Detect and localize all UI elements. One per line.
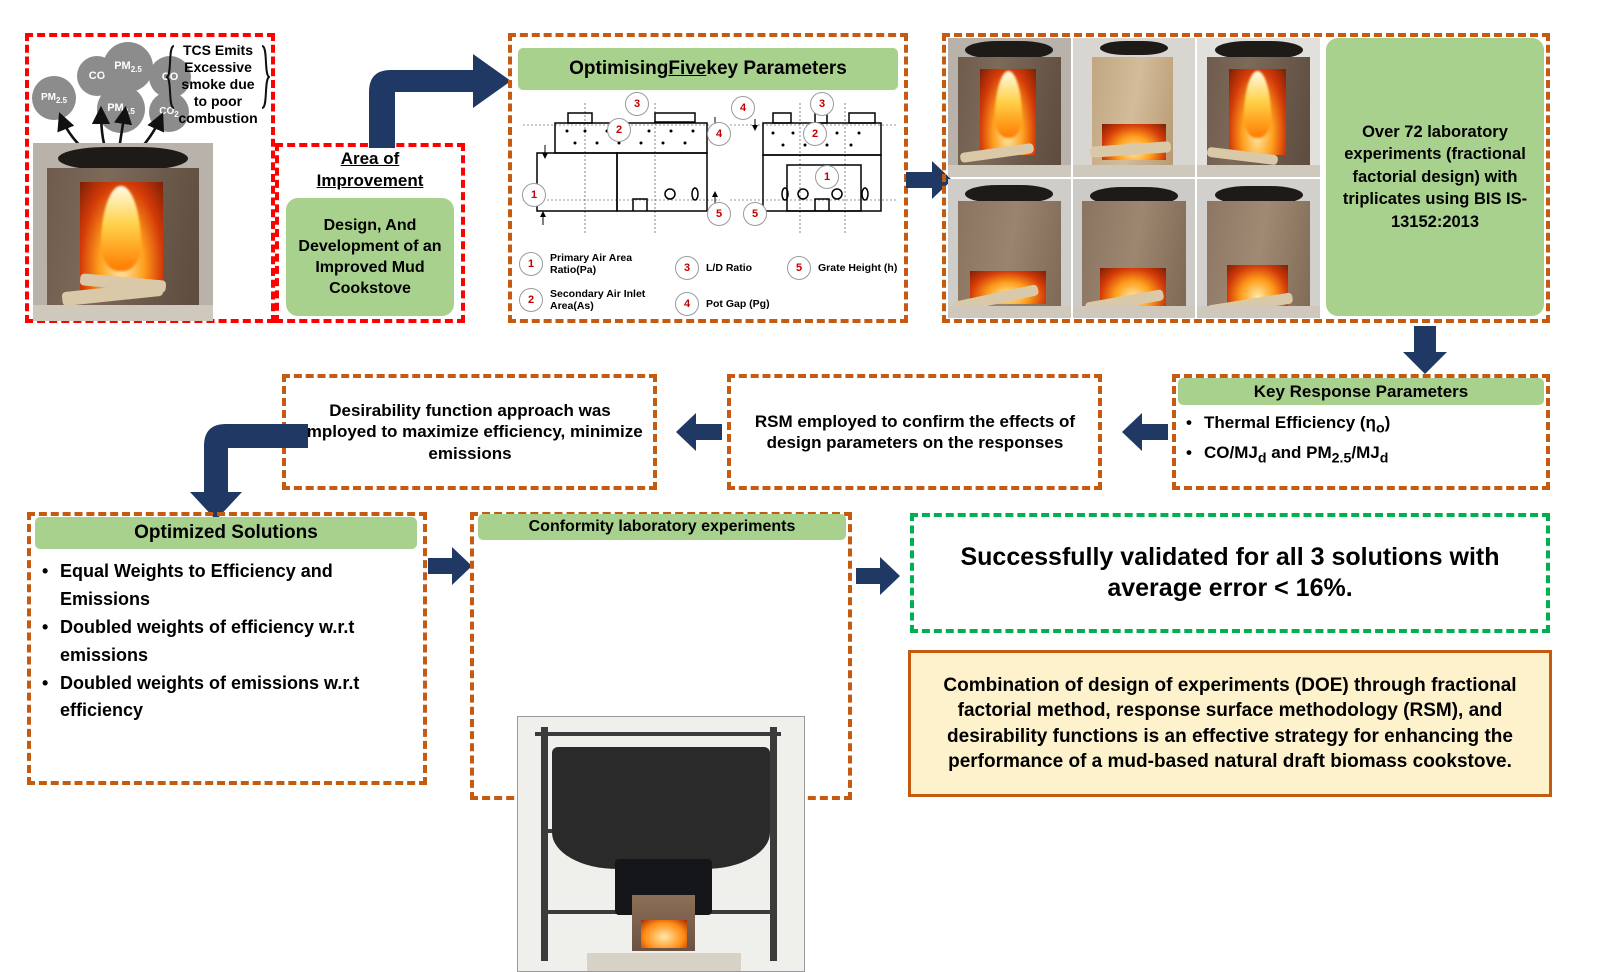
ash-bed — [1073, 306, 1196, 319]
key-response-item: CO/MJd and PM2.5/MJd — [1184, 440, 1544, 470]
item-subscript: o — [1376, 420, 1385, 436]
parameters-legend: 1 Primary Air Area Ratio(Pa) 2 Secondary… — [515, 252, 907, 318]
legend-callout-4: 4 — [675, 292, 699, 316]
legend-number: 3 — [684, 262, 690, 274]
legend-number: 4 — [684, 298, 690, 310]
bubble-label: PM2.5 — [114, 60, 142, 74]
key-response-title-bar: Key Response Parameters — [1178, 378, 1544, 405]
experiment-photo — [948, 179, 1071, 318]
area-heading-line1: Area of — [281, 148, 459, 170]
legend-callout-2: 2 — [519, 288, 543, 312]
pot-icon — [58, 147, 188, 170]
optimized-item: Doubled weights of emissions w.r.t effic… — [40, 670, 418, 726]
title-pre: Optimising — [569, 58, 668, 80]
arrow-conformity-to-validation — [856, 556, 900, 596]
item-text: Thermal Efficiency (η — [1204, 413, 1376, 432]
callout-number: 1 — [531, 189, 537, 201]
optimized-item: Doubled weights of efficiency w.r.t emis… — [40, 614, 418, 670]
legend-callout-1: 1 — [519, 252, 543, 276]
legend-label: Secondary Air Inlet Area(As) — [550, 288, 674, 312]
legend-item-1: 1 Primary Air Area Ratio(Pa) — [519, 252, 669, 276]
item-subscript: d — [1258, 451, 1267, 467]
callout-1-left: 1 — [522, 183, 546, 207]
item-text: /MJ — [1351, 443, 1379, 462]
item-text: CO/MJ — [1204, 443, 1258, 462]
callout-5-left: 5 — [707, 202, 731, 226]
conclusion-text-wrap: Combination of design of experiments (DO… — [918, 654, 1542, 793]
validation-text: Successfully validated for all 3 solutio… — [920, 542, 1540, 605]
callout-number: 3 — [819, 98, 825, 110]
optimized-title: Optimized Solutions — [134, 522, 318, 544]
callout-number: 4 — [740, 102, 746, 114]
hood-tent — [552, 747, 769, 869]
conformity-title-bar: Conformity laboratory experiments — [478, 514, 846, 540]
key-response-items: Thermal Efficiency (ηo) CO/MJd and PM2.5… — [1184, 410, 1544, 471]
ash-bed — [1073, 165, 1196, 178]
pot-icon — [965, 185, 1053, 203]
pot-icon — [965, 41, 1053, 59]
tcs-stove-photo — [33, 143, 213, 321]
title-post: key Parameters — [706, 58, 847, 80]
legend-item-3: 3 L/D Ratio — [675, 256, 785, 280]
legend-callout-5: 5 — [787, 256, 811, 280]
legend-item-2: 2 Secondary Air Inlet Area(As) — [519, 288, 674, 312]
ash-bed — [948, 306, 1071, 319]
hood-bar — [535, 732, 781, 736]
item-text: ) — [1385, 413, 1391, 432]
callout-number: 5 — [752, 208, 758, 220]
legend-label: Pot Gap (Pg) — [706, 298, 770, 310]
ash-bed — [948, 165, 1071, 178]
callout-3-left: 3 — [625, 92, 649, 116]
callout-2-left: 2 — [607, 118, 631, 142]
experiment-photo — [1197, 179, 1320, 318]
brace-icon — [166, 44, 270, 110]
callout-number: 4 — [716, 128, 722, 140]
validation-text-wrap: Successfully validated for all 3 solutio… — [920, 518, 1540, 628]
five-parameters-title-bar: Optimising Five key Parameters — [518, 48, 898, 90]
callout-2-right: 2 — [803, 122, 827, 146]
bubble-pm25-top: PM2.5 — [103, 42, 153, 92]
optimized-title-bar: Optimized Solutions — [35, 517, 417, 549]
desirability-text-wrap: Desirability function approach was emplo… — [292, 378, 648, 486]
ash-bed — [1197, 306, 1320, 319]
desirability-text: Desirability function approach was emplo… — [292, 400, 648, 464]
conformity-title: Conformity laboratory experiments — [529, 518, 796, 536]
drawing-callouts: 1 2 3 4 5 4 3 2 1 5 — [515, 90, 905, 245]
arrow-response-to-rsm — [1122, 412, 1168, 452]
experiments-note-text: Over 72 laboratory experiments (fraction… — [1332, 121, 1538, 233]
tcs-caption-group: TCS Emits Excessive smoke due to poor co… — [166, 42, 270, 114]
title-emphasis: Five — [668, 58, 706, 80]
arrow-experiments-to-response — [1402, 326, 1448, 374]
experiment-photo-grid — [948, 38, 1320, 318]
pot-icon — [1100, 41, 1169, 55]
callout-5-right: 5 — [743, 202, 767, 226]
area-improvement-text: Design, And Development of an Improved M… — [294, 215, 446, 299]
optimized-item: Equal Weights to Efficiency and Emission… — [40, 558, 418, 614]
legend-number: 1 — [528, 258, 534, 270]
callout-4-left: 4 — [707, 122, 731, 146]
area-heading-line2: Improvement — [281, 170, 459, 192]
callout-number: 1 — [824, 171, 830, 183]
hood-pole — [541, 727, 548, 961]
experiment-photo — [1197, 38, 1320, 177]
ash-bed — [33, 305, 213, 321]
legend-number: 5 — [796, 262, 802, 274]
hood-fire — [641, 920, 687, 948]
hood-pole — [770, 727, 777, 961]
callout-number: 2 — [616, 124, 622, 136]
item-subscript: 2.5 — [1332, 451, 1352, 467]
pot-icon — [1215, 41, 1303, 59]
legend-label: Grate Height (h) — [818, 262, 897, 274]
optimized-items: Equal Weights to Efficiency and Emission… — [40, 558, 418, 725]
area-improvement-body: Design, And Development of an Improved M… — [286, 198, 454, 316]
conformity-photo — [517, 716, 805, 972]
hood-table — [587, 953, 741, 971]
item-subscript: d — [1380, 451, 1389, 467]
key-response-item: Thermal Efficiency (ηo) — [1184, 410, 1544, 440]
callout-number: 2 — [812, 128, 818, 140]
legend-item-5: 5 Grate Height (h) — [787, 256, 911, 280]
key-response-title: Key Response Parameters — [1254, 382, 1469, 402]
callout-number: 3 — [634, 98, 640, 110]
legend-item-4: 4 Pot Gap (Pg) — [675, 292, 785, 316]
experiment-photo — [1073, 38, 1196, 177]
experiment-photo — [1073, 179, 1196, 318]
rsm-text: RSM employed to confirm the effects of d… — [737, 411, 1093, 454]
arrow-desirability-to-optimized — [178, 420, 308, 520]
ash-bed — [1197, 165, 1320, 178]
conclusion-text: Combination of design of experiments (DO… — [918, 673, 1542, 774]
legend-number: 2 — [528, 294, 534, 306]
legend-label: Primary Air Area Ratio(Pa) — [550, 252, 669, 276]
arrow-optimized-to-conformity — [428, 546, 472, 586]
arrow-rsm-to-desirability — [676, 412, 722, 452]
callout-number: 5 — [716, 208, 722, 220]
area-heading: Area of Improvement — [281, 148, 459, 192]
legend-label: L/D Ratio — [706, 262, 752, 274]
callout-1-right: 1 — [815, 165, 839, 189]
legend-callout-3: 3 — [675, 256, 699, 280]
rsm-text-wrap: RSM employed to confirm the effects of d… — [737, 378, 1093, 486]
experiments-note: Over 72 laboratory experiments (fraction… — [1326, 38, 1544, 316]
callout-4-right: 4 — [731, 96, 755, 120]
arrow-emissions-to-parameters — [355, 48, 515, 148]
experiment-photo — [948, 38, 1071, 177]
item-text: and PM — [1267, 443, 1332, 462]
callout-3-right: 3 — [810, 92, 834, 116]
